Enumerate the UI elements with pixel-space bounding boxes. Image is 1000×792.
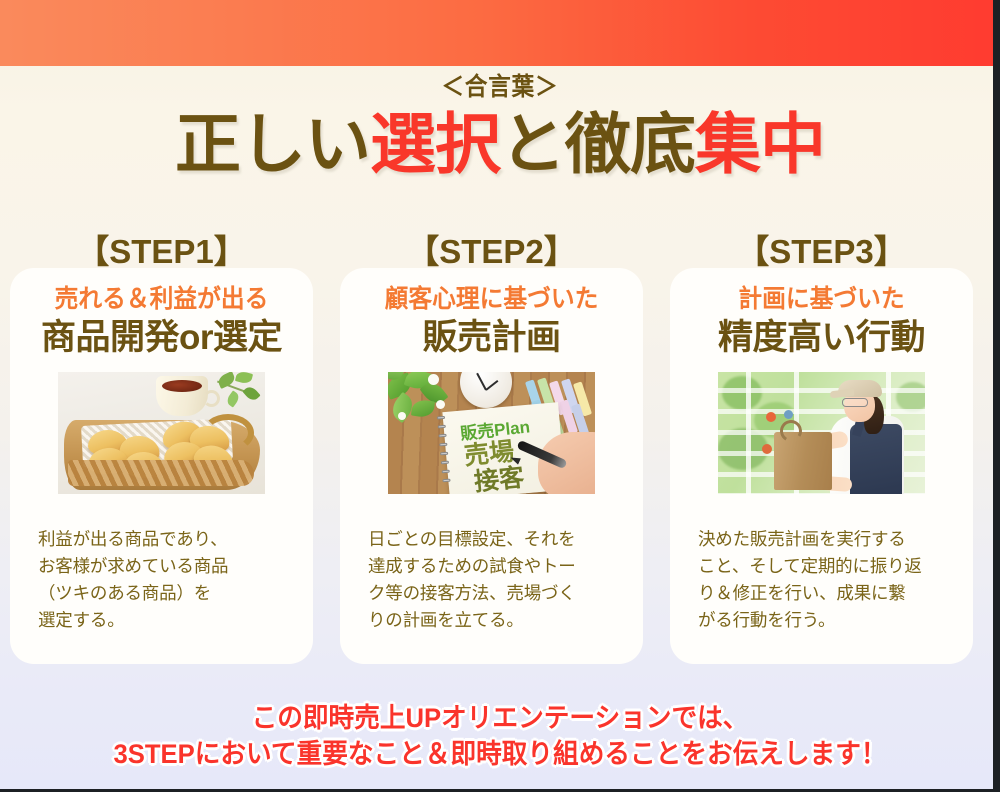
slogan-part-1: 正しい [175,107,370,181]
notepad-on-desk-photo: 販売Plan 売場 接客 [388,372,595,494]
step-3-body-line-1: 決めた販売計画を実行する [698,526,948,553]
slogan-part-2: 選択 [370,107,500,181]
slogan-part-4: 集中 [695,107,825,181]
hanging-orb-orange-2 [762,444,772,454]
basket-weave-texture [68,460,254,486]
footer-message: この即時売上UPオリエンテーションでは、 3STEPにおいて重要なこと＆即時取り… [0,700,1000,772]
basket-rim-shape [202,414,254,452]
slogan-part-3: と徹底 [500,107,695,181]
kraft-paper-bag-shape [774,432,832,490]
step-2-body-line-1: 日ごとの目標設定、それを [368,526,618,553]
step-1-card: 売れる＆利益が出る 商品開発or選定 利益が出る商品 [10,268,313,664]
step-1-body-line-1: 利益が出る商品であり、 [38,526,288,553]
step-2-body-line-2: 達成するための試食やトー [368,553,618,580]
step-1-body-line-4: 選定する。 [38,607,288,634]
step-2-title: 販売計画 [340,316,643,360]
step-3-card: 計画に基づいた 精度高い行動 [670,268,973,664]
hanging-orb-blue [784,410,793,419]
step-1-title: 商品開発or選定 [10,316,313,360]
slogan-block: ＜合言葉＞ 正しい選択と徹底集中 [0,72,1000,182]
step-1-body-line-3: （ツキのある商品）を [38,580,288,607]
step-2-card: 顧客心理に基づいた 販売計画 [340,268,643,664]
step-2-body-line-3: ク等の接客方法、売場づく [368,580,618,607]
step-2-body: 日ごとの目標設定、それを 達成するための試食やトー ク等の接客方法、売場づく り… [368,526,618,634]
step-2-subtitle: 顧客心理に基づいた [348,284,636,314]
step-1-heading: 【STEP1】 [10,225,313,273]
teacup-handle-shape [203,390,220,407]
footer-line-2: 3STEPにおいて重要なこと＆即時取り組めることをお伝えします！ [25,736,975,772]
tea-liquid-shape [162,380,202,392]
step-3-heading: 【STEP3】 [670,225,973,273]
step-3-body-line-3: り＆修正を行い、成果に繋 [698,580,948,607]
header-banner [0,0,1000,66]
slide-right-edge-border [993,0,1000,792]
step-1-subtitle: 売れる＆利益が出る [18,284,306,314]
step-1-body-line-2: お客様が求めている商品 [38,553,288,580]
slogan-kicker: ＜合言葉＞ [50,72,950,102]
step-3-body: 決めた販売計画を実行する こと、そして定期的に振り返 り＆修正を行い、成果に繋 … [698,526,948,634]
footer-line-1: この即時売上UPオリエンテーションでは、 [25,700,975,736]
step-3-title: 精度高い行動 [670,316,973,360]
slogan-main: 正しい選択と徹底集中 [0,106,1000,182]
shop-clerk-handing-paper-bag-photo [718,372,925,494]
step-3-subtitle: 計画に基づいた [678,284,966,314]
hanging-orb-orange [766,412,776,422]
step-2-body-line-4: りの計画を立てる。 [368,607,618,634]
step-3-body-line-2: こと、そして定期的に振り返 [698,553,948,580]
glasses-icon [842,398,868,407]
step-2-heading: 【STEP2】 [340,225,643,273]
step-1-body: 利益が出る商品であり、 お客様が求めている商品 （ツキのある商品）を 選定する。 [38,526,288,634]
madeleines-basket-with-tea-photo [58,372,265,494]
step-3-body-line-4: がる行動を行う。 [698,607,948,634]
slide-canvas: 成功する商品育成の3STEP ＜合言葉＞ 正しい選択と徹底集中 【STEP1】 … [0,0,1000,792]
